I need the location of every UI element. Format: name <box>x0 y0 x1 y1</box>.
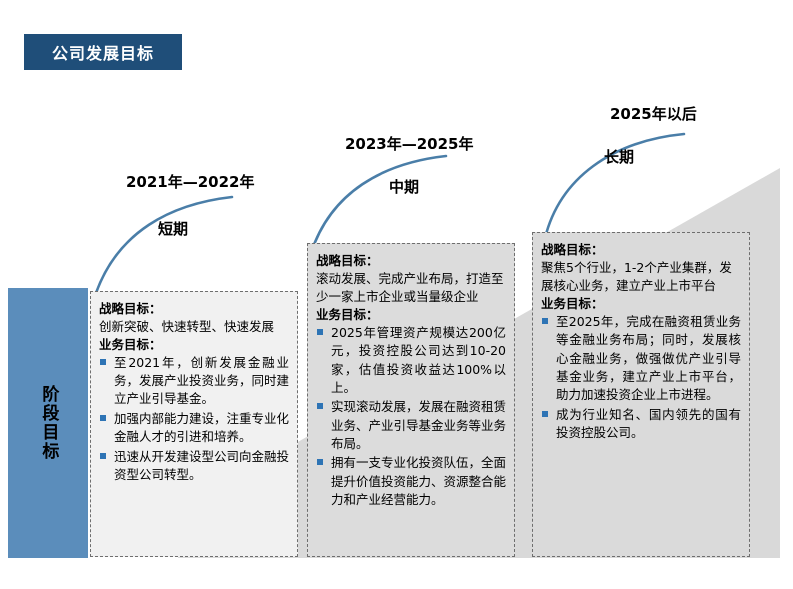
list-item-text: 加强内部能力建设，注重专业化金融人才的引进和培养。 <box>114 411 289 444</box>
business-heading-1: 业务目标： <box>99 336 289 354</box>
square-bullet-icon <box>542 318 548 324</box>
square-bullet-icon <box>317 403 323 409</box>
strategy-heading-3: 战略目标： <box>541 241 741 259</box>
list-item-text: 拥有一支专业化投资队伍，全面提升价值投资能力、资源整合能力和产业经营能力。 <box>331 455 506 507</box>
phase-panel-1: 战略目标： 创新突破、快速转型、快速发展 业务目标： 至2021年，创新发展金融… <box>90 291 298 557</box>
page-title-text: 公司发展目标 <box>52 40 154 64</box>
list-item: 迅速从开发建设型公司向金融投资型公司转型。 <box>99 448 289 485</box>
strategy-heading-2: 战略目标： <box>316 252 506 270</box>
timeline-years-3: 2025年以后 <box>610 103 697 124</box>
list-item: 至2021年，创新发展金融业务，发展产业投资业务，同时建立产业引导基金。 <box>99 354 289 409</box>
timeline-term-1: 短期 <box>158 218 188 239</box>
timeline-term-2: 中期 <box>389 176 419 197</box>
square-bullet-icon <box>317 459 323 465</box>
strategy-text-3: 聚焦5个行业，1-2个产业集群，发展核心业务，建立产业上市平台 <box>541 259 741 295</box>
list-item-text: 至2021年，创新发展金融业务，发展产业投资业务，同时建立产业引导基金。 <box>114 355 289 407</box>
business-heading-3: 业务目标： <box>541 295 741 313</box>
business-bullets-3: 至2025年，完成在融资租赁业务等金融业务布局；同时，发展核心金融业务，做强做优… <box>541 313 741 443</box>
strategy-text-1: 创新突破、快速转型、快速发展 <box>99 318 289 336</box>
list-item-text: 实现滚动发展，发展在融资租赁业务、产业引导基金业务等业务布局。 <box>331 399 506 451</box>
stage-goal-label: 阶段目标 <box>38 385 59 461</box>
list-item-text: 迅速从开发建设型公司向金融投资型公司转型。 <box>114 449 289 482</box>
list-item: 实现滚动发展，发展在融资租赁业务、产业引导基金业务等业务布局。 <box>316 398 506 453</box>
square-bullet-icon <box>542 411 548 417</box>
slide-canvas: 公司发展目标 2021年—2022年 短期 2023年—2025年 中期 202… <box>0 0 793 589</box>
square-bullet-icon <box>100 453 106 459</box>
timeline-years-2: 2023年—2025年 <box>345 133 474 154</box>
business-bullets-1: 至2021年，创新发展金融业务，发展产业投资业务，同时建立产业引导基金。 加强内… <box>99 354 289 485</box>
list-item-text: 至2025年，完成在融资租赁业务等金融业务布局；同时，发展核心金融业务，做强做优… <box>556 314 741 403</box>
list-item: 至2025年，完成在融资租赁业务等金融业务布局；同时，发展核心金融业务，做强做优… <box>541 313 741 405</box>
strategy-text-2: 滚动发展、完成产业布局，打造至少一家上市企业或当量级企业 <box>316 270 506 306</box>
square-bullet-icon <box>317 329 323 335</box>
page-title: 公司发展目标 <box>24 34 182 70</box>
list-item-text: 成为行业知名、国内领先的国有投资控股公司。 <box>556 407 741 440</box>
phase-panel-3: 战略目标： 聚焦5个行业，1-2个产业集群，发展核心业务，建立产业上市平台 业务… <box>532 232 750 557</box>
square-bullet-icon <box>100 359 106 365</box>
list-item: 拥有一支专业化投资队伍，全面提升价值投资能力、资源整合能力和产业经营能力。 <box>316 454 506 509</box>
strategy-heading-1: 战略目标： <box>99 300 289 318</box>
list-item-text: 2025年管理资产规模达200亿元，投资控股公司达到10-20家，估值投资收益达… <box>331 325 506 395</box>
business-heading-2: 业务目标： <box>316 306 506 324</box>
timeline-term-3: 长期 <box>604 146 634 167</box>
stage-goal-bar: 阶段目标 <box>8 288 88 558</box>
square-bullet-icon <box>100 415 106 421</box>
list-item: 加强内部能力建设，注重专业化金融人才的引进和培养。 <box>99 410 289 447</box>
timeline-years-1: 2021年—2022年 <box>126 171 255 192</box>
business-bullets-2: 2025年管理资产规模达200亿元，投资控股公司达到10-20家，估值投资收益达… <box>316 324 506 510</box>
list-item: 成为行业知名、国内领先的国有投资控股公司。 <box>541 406 741 443</box>
phase-panel-2: 战略目标： 滚动发展、完成产业布局，打造至少一家上市企业或当量级企业 业务目标：… <box>307 243 515 557</box>
list-item: 2025年管理资产规模达200亿元，投资控股公司达到10-20家，估值投资收益达… <box>316 324 506 398</box>
